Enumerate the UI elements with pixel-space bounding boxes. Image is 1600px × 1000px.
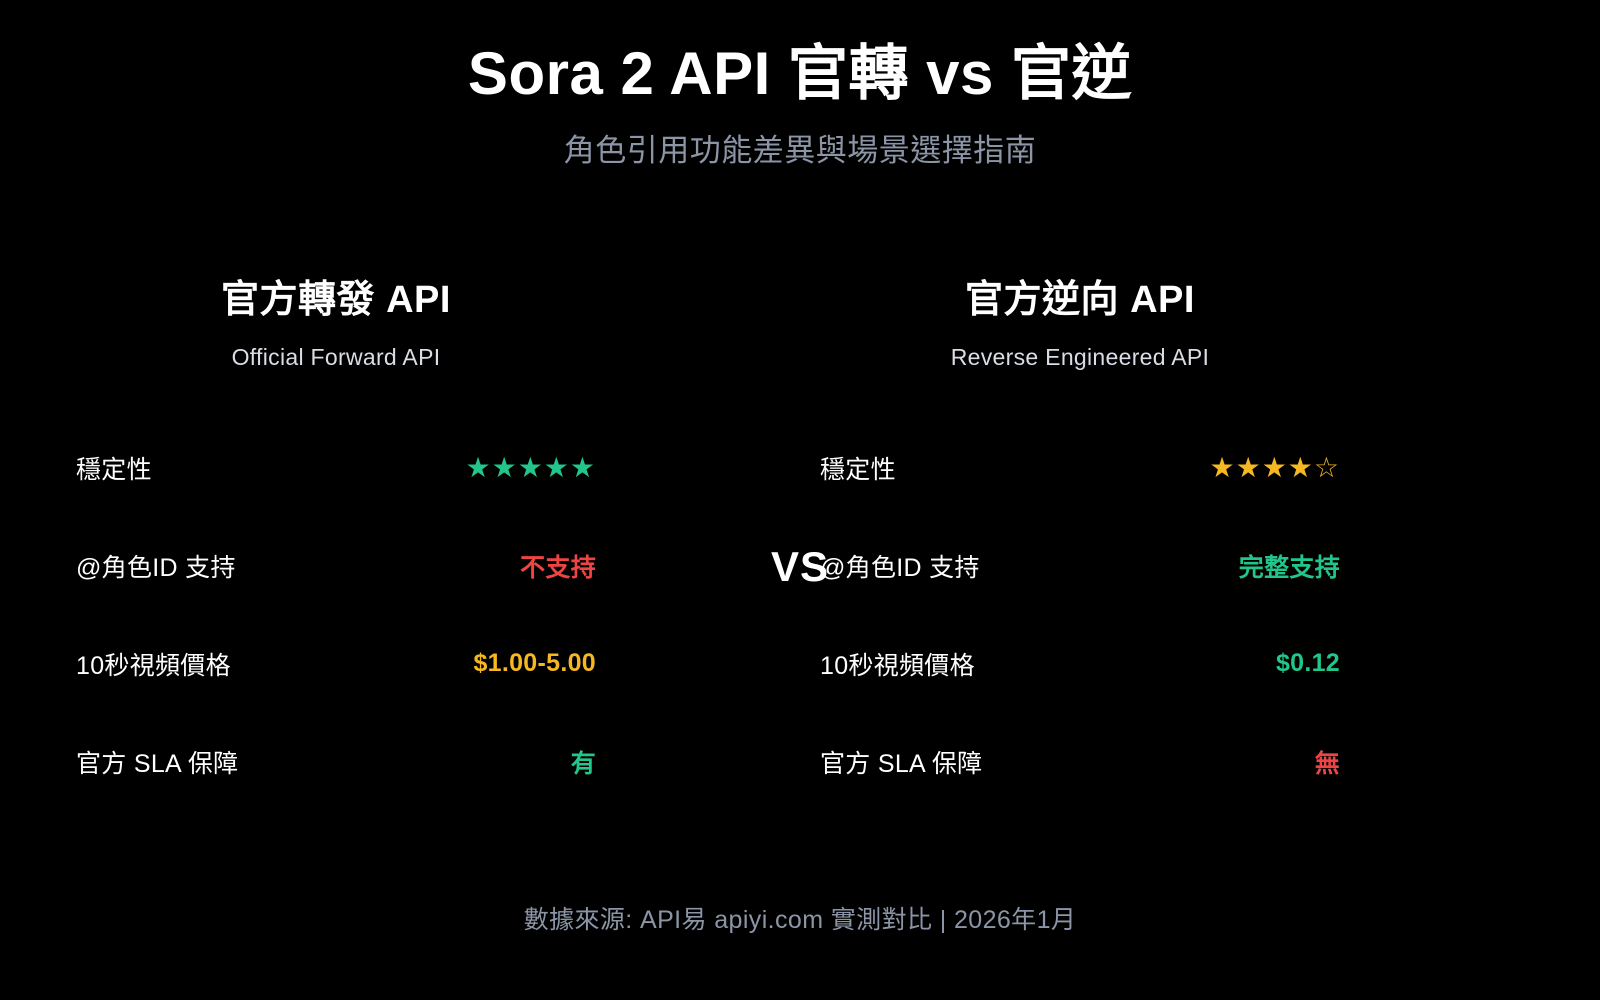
row-label: 官方 SLA 保障 bbox=[76, 744, 238, 780]
row-value: 不支持 bbox=[520, 548, 596, 584]
row-value: 完整支持 bbox=[1239, 548, 1340, 584]
row-label: 官方 SLA 保障 bbox=[820, 744, 982, 780]
table-row: 官方 SLA 保障 無 bbox=[820, 713, 1340, 811]
row-label: 穩定性 bbox=[76, 450, 152, 486]
page-subtitle: 角色引用功能差異與場景選擇指南 bbox=[0, 125, 1600, 170]
column-title: 官方逆向 API bbox=[800, 278, 1360, 324]
stability-stars: ★★★★☆ bbox=[1209, 454, 1340, 482]
row-label: 10秒視頻價格 bbox=[76, 646, 231, 682]
page-title: Sora 2 API 官轉 vs 官逆 bbox=[0, 40, 1600, 107]
column-subtitle: Official Forward API bbox=[56, 344, 616, 371]
stability-stars: ★★★★★ bbox=[465, 454, 596, 482]
row-label: @角色ID 支持 bbox=[76, 548, 236, 584]
header: Sora 2 API 官轉 vs 官逆 角色引用功能差異與場景選擇指南 bbox=[0, 40, 1600, 170]
row-label: @角色ID 支持 bbox=[820, 548, 980, 584]
row-value: 無 bbox=[1315, 744, 1340, 780]
row-value: $1.00-5.00 bbox=[473, 649, 596, 678]
column-header: 官方轉發 API Official Forward API bbox=[56, 278, 616, 371]
table-row: 官方 SLA 保障 有 bbox=[76, 713, 596, 811]
row-label: 穩定性 bbox=[820, 450, 896, 486]
column-rows: 穩定性 ★★★★★ @角色ID 支持 不支持 10秒視頻價格 $1.00-5.0… bbox=[56, 419, 616, 811]
table-row: @角色ID 支持 完整支持 bbox=[820, 517, 1340, 615]
infographic-canvas: Sora 2 API 官轉 vs 官逆 角色引用功能差異與場景選擇指南 官方轉發… bbox=[0, 0, 1600, 1000]
table-row: 穩定性 ★★★★☆ bbox=[820, 419, 1340, 517]
column-title: 官方轉發 API bbox=[56, 278, 616, 324]
column-official-forward: 官方轉發 API Official Forward API 穩定性 ★★★★★ … bbox=[56, 278, 616, 811]
comparison-area: 官方轉發 API Official Forward API 穩定性 ★★★★★ … bbox=[0, 278, 1600, 811]
table-row: @角色ID 支持 不支持 bbox=[76, 517, 596, 615]
table-row: 10秒視頻價格 $0.12 bbox=[820, 615, 1340, 713]
column-reverse-engineered: 官方逆向 API Reverse Engineered API 穩定性 ★★★★… bbox=[800, 278, 1360, 811]
column-subtitle: Reverse Engineered API bbox=[800, 344, 1360, 371]
row-value: 有 bbox=[571, 744, 596, 780]
column-rows: 穩定性 ★★★★☆ @角色ID 支持 完整支持 10秒視頻價格 $0.12 官方… bbox=[800, 419, 1360, 811]
footer-source: 數據來源: API易 apiyi.com 實測對比 | 2026年1月 bbox=[0, 900, 1600, 936]
column-header: 官方逆向 API Reverse Engineered API bbox=[800, 278, 1360, 371]
table-row: 10秒視頻價格 $1.00-5.00 bbox=[76, 615, 596, 713]
row-label: 10秒視頻價格 bbox=[820, 646, 975, 682]
table-row: 穩定性 ★★★★★ bbox=[76, 419, 596, 517]
row-value: $0.12 bbox=[1276, 649, 1340, 678]
